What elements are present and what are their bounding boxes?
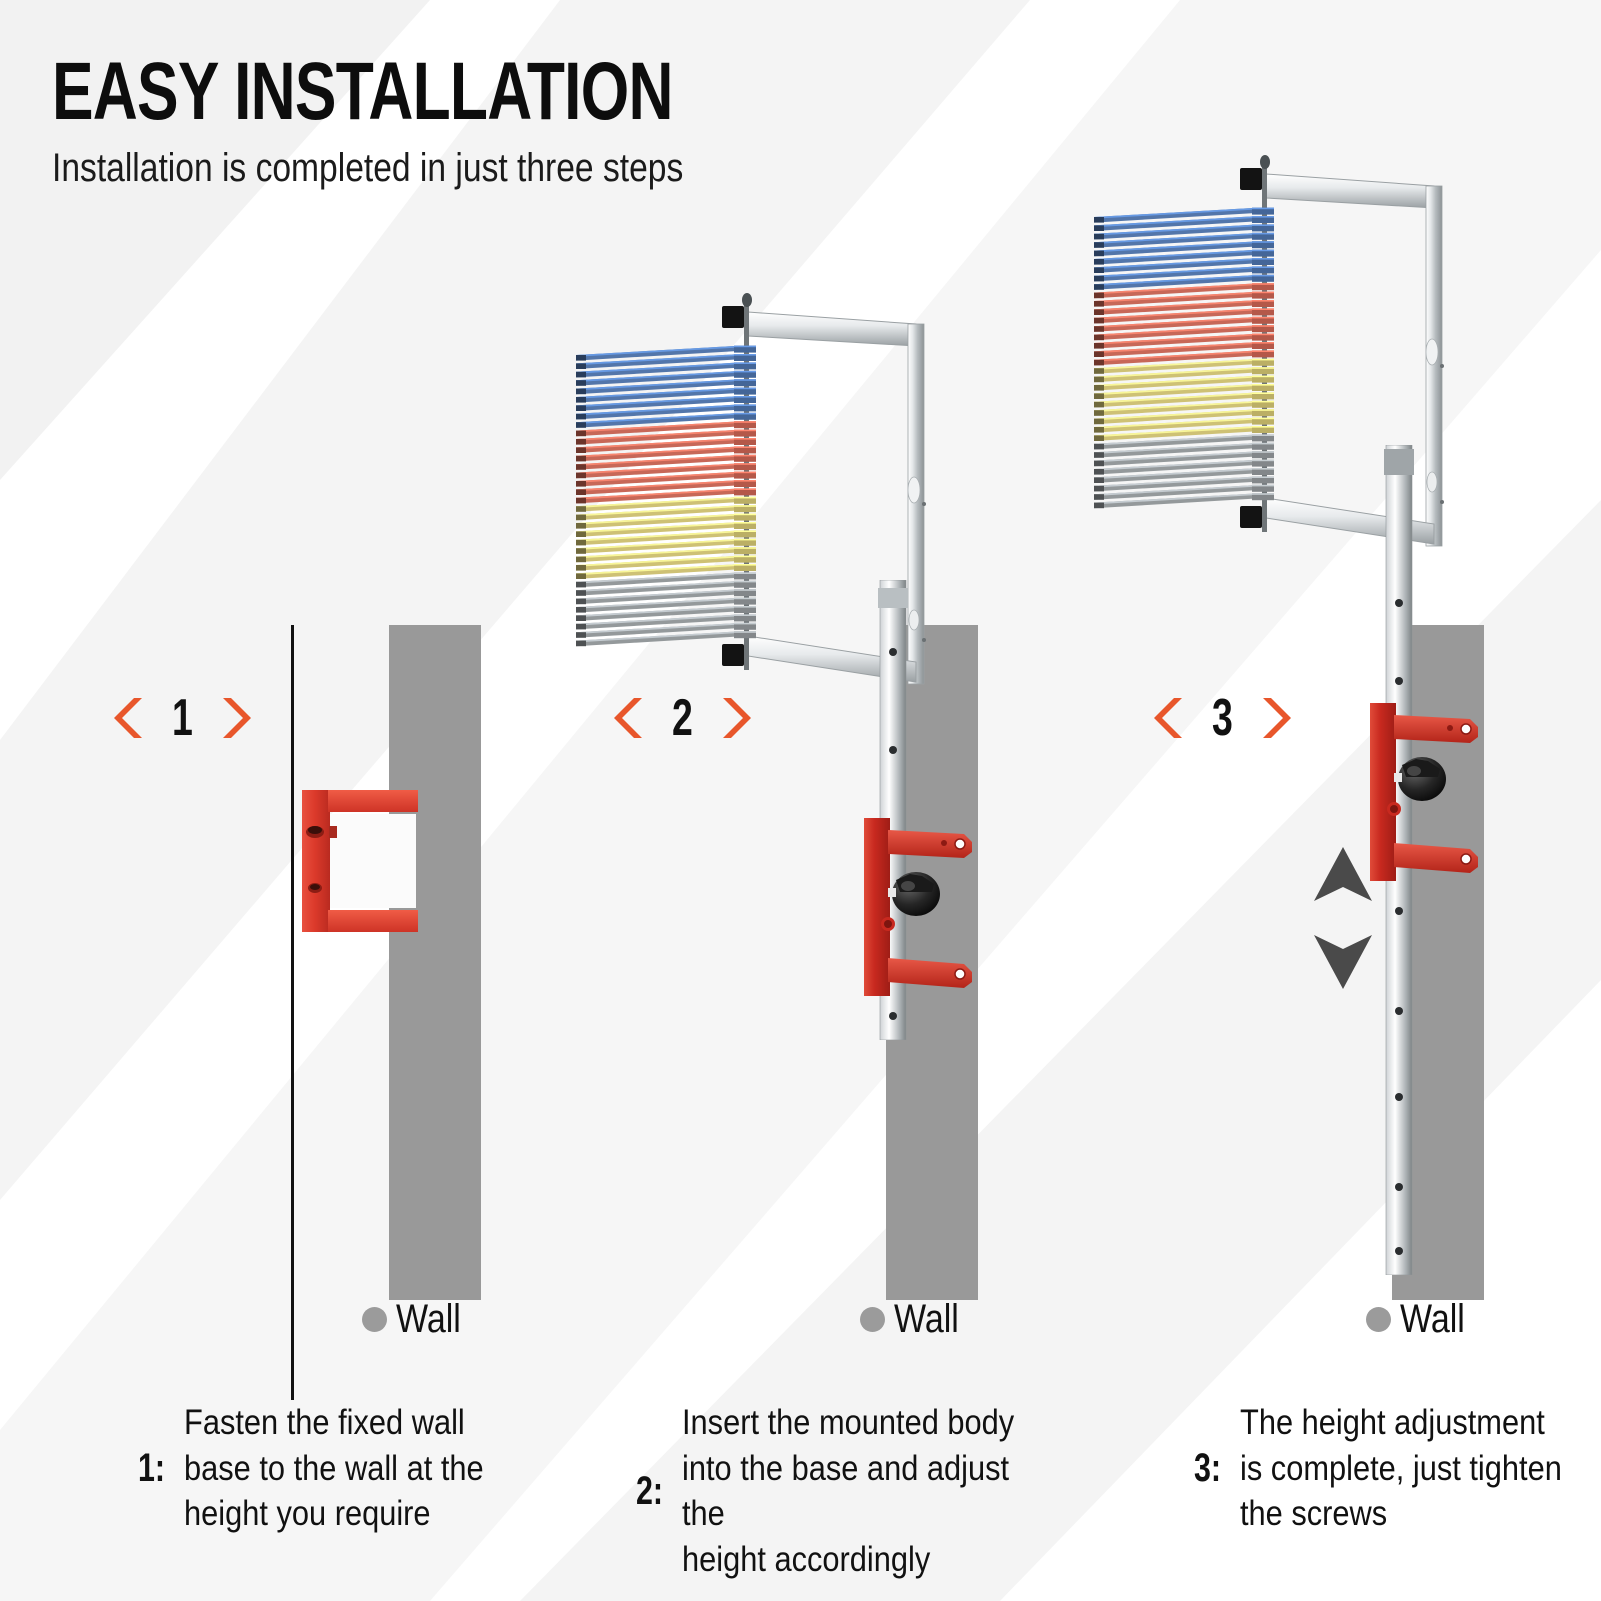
chevron-right-icon <box>223 696 257 740</box>
wall-legend-3: Wall <box>1366 1297 1476 1342</box>
wall-legend-2: Wall <box>860 1297 970 1342</box>
page-title: EASY INSTALLATION <box>52 52 673 132</box>
step-3-number: 3 <box>1212 692 1233 744</box>
step-3-caption: 3: The height adjustment is complete, ju… <box>1194 1400 1601 1537</box>
step-3-caption-number: 3: <box>1194 1446 1229 1491</box>
step-1-caption: 1: Fasten the fixed wall base to the wal… <box>138 1400 538 1537</box>
step-2-caption-text: Insert the mounted body into the base an… <box>682 1400 1029 1582</box>
chevron-left-icon <box>108 696 142 740</box>
step-2-caption: 2: Insert the mounted body into the base… <box>636 1400 1076 1582</box>
chevron-left-icon <box>1148 696 1182 740</box>
wall-dot-icon <box>362 1307 387 1332</box>
step-3-badge[interactable]: 3 <box>1148 692 1297 744</box>
step-1-column: 1 Wall 1: Fasten the fixed wall base to … <box>0 0 548 1601</box>
step-3-column: 3 Wall 3: The height adjustment is compl… <box>1096 0 1601 1601</box>
wall-dot-icon <box>1366 1307 1391 1332</box>
mounting-bracket-3 <box>1366 697 1484 887</box>
wall-legend-1: Wall <box>362 1297 472 1342</box>
wall-column-1 <box>389 625 481 1300</box>
header: EASY INSTALLATION Installation is comple… <box>52 52 869 191</box>
step-1-badge[interactable]: 1 <box>108 692 257 744</box>
chevron-right-icon <box>723 696 757 740</box>
step-2-column: 2 Wall 2: Insert the mounted body into t… <box>548 0 1096 1601</box>
step-2-caption-number: 2: <box>636 1469 671 1514</box>
wall-legend-label-3: Wall <box>1400 1297 1465 1342</box>
step-2-badge[interactable]: 2 <box>608 692 757 744</box>
page-subtitle: Installation is completed in just three … <box>52 146 738 191</box>
step-2-number: 2 <box>672 692 693 744</box>
mounting-bracket-2 <box>860 812 978 1002</box>
column-divider <box>291 625 294 1400</box>
step-1-caption-text: Fasten the fixed wall base to the wall a… <box>184 1400 484 1537</box>
step-3-caption-text: The height adjustment is complete, just … <box>1240 1400 1562 1537</box>
step-1-caption-number: 1: <box>138 1446 173 1491</box>
wall-base-bracket-1 <box>300 786 420 936</box>
step-1-number: 1 <box>172 692 193 744</box>
wall-dot-icon <box>860 1307 885 1332</box>
wall-legend-label-1: Wall <box>396 1297 461 1342</box>
chevron-left-icon <box>608 696 642 740</box>
chevron-right-icon <box>1263 696 1297 740</box>
wall-legend-label-2: Wall <box>894 1297 959 1342</box>
